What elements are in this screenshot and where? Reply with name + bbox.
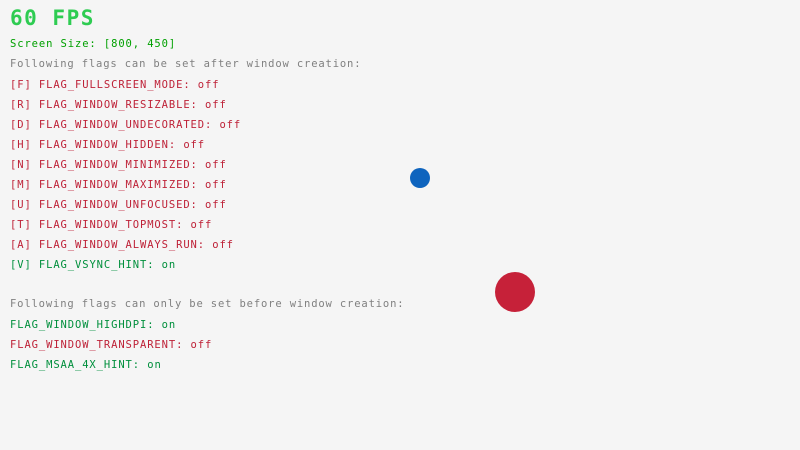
- flag-flag-fullscreen-mode[interactable]: [F] FLAG_FULLSCREEN_MODE: off: [10, 79, 219, 91]
- flag-name: FLAG_WINDOW_HIGHDPI:: [10, 319, 162, 331]
- flag-name: FLAG_WINDOW_RESIZABLE:: [39, 99, 205, 111]
- flag-hotkey: [T]: [10, 219, 39, 231]
- flag-hotkey: [M]: [10, 179, 39, 191]
- flag-flag-window-always-run[interactable]: [A] FLAG_WINDOW_ALWAYS_RUN: off: [10, 239, 234, 251]
- flag-state: off: [191, 339, 213, 351]
- screen-size-label: Screen Size: [800, 450]: [10, 38, 176, 50]
- red-ball: [495, 272, 535, 312]
- flag-state: off: [198, 79, 220, 91]
- flag-state: off: [205, 99, 227, 111]
- flag-state: on: [147, 359, 161, 371]
- flag-state: off: [212, 239, 234, 251]
- flag-state: on: [162, 319, 176, 331]
- flag-hotkey: [N]: [10, 159, 39, 171]
- flag-name: FLAG_WINDOW_TOPMOST:: [39, 219, 191, 231]
- flag-flag-vsync-hint[interactable]: [V] FLAG_VSYNC_HINT: on: [10, 259, 176, 271]
- flag-hotkey: [V]: [10, 259, 39, 271]
- flag-state: on: [162, 259, 176, 271]
- flag-hotkey: [H]: [10, 139, 39, 151]
- flag-name: FLAG_VSYNC_HINT:: [39, 259, 162, 271]
- flag-flag-window-undecorated[interactable]: [D] FLAG_WINDOW_UNDECORATED: off: [10, 119, 241, 131]
- fps-counter: 60 FPS: [10, 6, 95, 30]
- flag-name: FLAG_WINDOW_HIDDEN:: [39, 139, 183, 151]
- flag-flag-window-transparent[interactable]: FLAG_WINDOW_TRANSPARENT: off: [10, 339, 212, 351]
- flag-hotkey: [A]: [10, 239, 39, 251]
- flag-state: off: [205, 179, 227, 191]
- flag-state: off: [205, 199, 227, 211]
- creation-flags-heading: Following flags can only be set before w…: [10, 298, 404, 310]
- flag-state: off: [205, 159, 227, 171]
- flag-state: off: [219, 119, 241, 131]
- flag-flag-window-minimized[interactable]: [N] FLAG_WINDOW_MINIMIZED: off: [10, 159, 227, 171]
- flag-name: FLAG_WINDOW_MAXIMIZED:: [39, 179, 205, 191]
- raylib-window-canvas: 60 FPS Screen Size: [800, 450] Following…: [0, 0, 800, 450]
- flag-flag-window-hidden[interactable]: [H] FLAG_WINDOW_HIDDEN: off: [10, 139, 205, 151]
- flag-state: off: [183, 139, 205, 151]
- flag-hotkey: [U]: [10, 199, 39, 211]
- flag-name: FLAG_FULLSCREEN_MODE:: [39, 79, 198, 91]
- flag-flag-window-maximized[interactable]: [M] FLAG_WINDOW_MAXIMIZED: off: [10, 179, 227, 191]
- flag-name: FLAG_MSAA_4X_HINT:: [10, 359, 147, 371]
- blue-ball: [410, 168, 430, 188]
- flag-flag-msaa-4x-hint[interactable]: FLAG_MSAA_4X_HINT: on: [10, 359, 162, 371]
- flag-state: off: [191, 219, 213, 231]
- flag-flag-window-topmost[interactable]: [T] FLAG_WINDOW_TOPMOST: off: [10, 219, 212, 231]
- flag-name: FLAG_WINDOW_MINIMIZED:: [39, 159, 205, 171]
- flag-flag-window-highdpi[interactable]: FLAG_WINDOW_HIGHDPI: on: [10, 319, 176, 331]
- runtime-flags-heading: Following flags can be set after window …: [10, 58, 361, 70]
- flag-hotkey: [F]: [10, 79, 39, 91]
- flag-name: FLAG_WINDOW_UNDECORATED:: [39, 119, 220, 131]
- flag-name: FLAG_WINDOW_UNFOCUSED:: [39, 199, 205, 211]
- flag-name: FLAG_WINDOW_ALWAYS_RUN:: [39, 239, 212, 251]
- flag-flag-window-unfocused[interactable]: [U] FLAG_WINDOW_UNFOCUSED: off: [10, 199, 227, 211]
- flag-hotkey: [R]: [10, 99, 39, 111]
- flag-hotkey: [D]: [10, 119, 39, 131]
- flag-name: FLAG_WINDOW_TRANSPARENT:: [10, 339, 191, 351]
- flag-flag-window-resizable[interactable]: [R] FLAG_WINDOW_RESIZABLE: off: [10, 99, 227, 111]
